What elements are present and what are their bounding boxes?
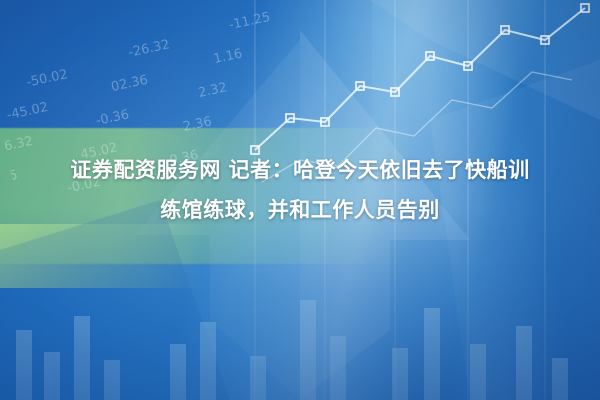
news-banner: 21.9 -45.02 4.36 10.02 -02.36 -50.02 -26… — [0, 0, 600, 400]
headline-text: 证券配资服务网 记者：哈登今天依旧去了快船训 练馆练球，并和工作人员告别 — [0, 150, 600, 230]
headline-line-2: 练馆练球，并和工作人员告别 — [0, 190, 600, 230]
headline-line-1: 证券配资服务网 记者：哈登今天依旧去了快船训 — [0, 150, 600, 190]
